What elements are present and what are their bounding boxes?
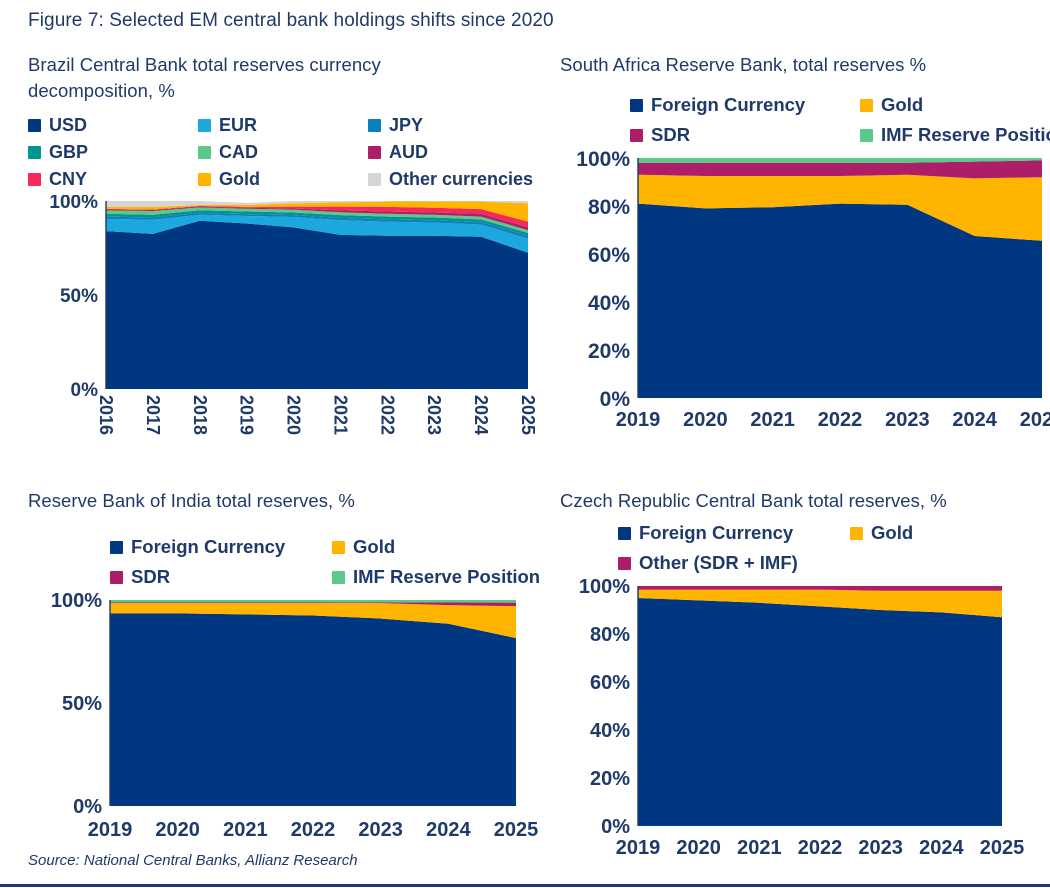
legend-item-label: Gold	[353, 536, 395, 558]
legend-swatch-icon	[332, 541, 345, 554]
chart-czech: 100%80%60%40%20%0%2019202020212022202320…	[560, 578, 1050, 873]
legend-swatch-icon	[618, 527, 631, 540]
legend-swatch-icon	[860, 129, 873, 142]
legend-item[interactable]: JPY	[368, 112, 538, 139]
legend-swatch-icon	[618, 557, 631, 570]
x-axis-tick-label: 2022	[798, 837, 843, 859]
source-note: Source: National Central Banks, Allianz …	[28, 852, 358, 869]
legend-item-label: GBP	[49, 142, 88, 163]
x-axis-tick-label: 2020	[284, 395, 304, 435]
legend-swatch-icon	[28, 119, 41, 132]
x-axis-tick-label: 2024	[919, 837, 964, 859]
legend-item-label: IMF Reserve Position	[881, 124, 1050, 146]
legend-item-label: Gold	[219, 169, 260, 190]
legend-item[interactable]: SDR	[110, 562, 332, 592]
x-axis-tick-label: 2021	[750, 409, 795, 431]
x-axis-tick-label: 2023	[858, 837, 903, 859]
legend-item[interactable]: AUD	[368, 139, 538, 166]
x-axis-tick-label: 2020	[155, 819, 200, 841]
x-axis-tick-label: 2019	[88, 819, 133, 841]
legend-item[interactable]: Other currencies	[368, 166, 538, 193]
legend-item-label: Foreign Currency	[131, 536, 285, 558]
legend-item-label: IMF Reserve Position	[353, 566, 540, 588]
legend-south-africa: Foreign CurrencyGoldSDRIMF Reserve Posit…	[560, 90, 1050, 150]
chart-svg-brazil: 100%50%0%2016201720182019202020212022202…	[28, 195, 538, 455]
y-axis-tick-label: 60%	[588, 244, 630, 267]
legend-swatch-icon	[368, 173, 381, 186]
chart-brazil: 100%50%0%2016201720182019202020212022202…	[28, 195, 538, 460]
legend-item-label: CNY	[49, 169, 87, 190]
chart-svg-south_africa: 100%80%60%40%20%0%2019202020212022202320…	[560, 150, 1050, 440]
x-axis-tick-label: 2018	[190, 395, 210, 435]
legend-swatch-icon	[28, 173, 41, 186]
y-axis-tick-label: 40%	[588, 292, 630, 315]
area-series	[638, 598, 1002, 826]
legend-item-label: SDR	[651, 124, 690, 146]
legend-swatch-icon	[630, 99, 643, 112]
y-axis-tick-label: 0%	[71, 380, 99, 401]
legend-swatch-icon	[368, 119, 381, 132]
x-axis-tick-label: 2019	[237, 395, 257, 435]
chart-india: 100%50%0%2019202020212022202320242025	[28, 592, 538, 857]
y-axis-tick-label: 20%	[590, 768, 630, 790]
legend-item-label: Other (SDR + IMF)	[639, 552, 798, 574]
legend-swatch-icon	[332, 571, 345, 584]
panel-czech-title: Czech Republic Central Bank total reserv…	[560, 488, 1050, 514]
panel-brazil: Brazil Central Bank total reserves curre…	[28, 52, 538, 482]
legend-swatch-icon	[860, 99, 873, 112]
y-axis-tick-label: 40%	[590, 720, 630, 742]
legend-item[interactable]: CNY	[28, 166, 198, 193]
area-series	[638, 160, 1042, 178]
legend-item[interactable]: IMF Reserve Position	[860, 120, 1050, 150]
x-axis-tick-label: 2022	[818, 409, 863, 431]
panel-india: Reserve Bank of India total reserves, % …	[28, 488, 538, 848]
y-axis-tick-label: 80%	[588, 196, 630, 219]
legend-swatch-icon	[630, 129, 643, 142]
legend-item-label: Other currencies	[389, 169, 533, 190]
x-axis-tick-label: 2024	[426, 819, 471, 841]
legend-item[interactable]: Gold	[860, 90, 1050, 120]
legend-item-label: USD	[49, 115, 87, 136]
legend-item[interactable]: Gold	[198, 166, 368, 193]
legend-item-label: JPY	[389, 115, 423, 136]
legend-item[interactable]: Gold	[332, 532, 532, 562]
x-axis-tick-label: 2021	[737, 837, 782, 859]
chart-south-africa: 100%80%60%40%20%0%2019202020212022202320…	[560, 150, 1050, 445]
x-axis-tick-label: 2023	[885, 409, 930, 431]
x-axis-tick-label: 2020	[683, 409, 728, 431]
x-axis-tick-label: 2020	[676, 837, 721, 859]
panel-india-title: Reserve Bank of India total reserves, %	[28, 488, 538, 514]
y-axis-tick-label: 60%	[590, 672, 630, 694]
figure-title: Figure 7: Selected EM central bank holdi…	[28, 10, 554, 32]
x-axis-tick-label: 2025	[980, 837, 1025, 859]
legend-item[interactable]: Foreign Currency	[618, 518, 850, 548]
legend-swatch-icon	[198, 119, 211, 132]
legend-item[interactable]: CAD	[198, 139, 368, 166]
legend-item[interactable]: Other (SDR + IMF)	[618, 548, 850, 578]
legend-swatch-icon	[368, 146, 381, 159]
legend-item[interactable]: USD	[28, 112, 198, 139]
legend-item[interactable]: Foreign Currency	[110, 532, 332, 562]
legend-item-label: AUD	[389, 142, 428, 163]
x-axis-tick-label: 2023	[358, 819, 403, 841]
y-axis-tick-label: 20%	[588, 340, 630, 363]
x-axis-tick-label: 2019	[616, 409, 661, 431]
y-axis-tick-label: 100%	[49, 195, 98, 213]
y-axis-tick-label: 100%	[576, 150, 630, 171]
legend-swatch-icon	[850, 527, 863, 540]
y-axis-tick-label: 100%	[579, 578, 630, 598]
area-series	[110, 600, 516, 603]
y-axis-tick-label: 100%	[51, 592, 102, 612]
x-axis-tick-label: 2025	[518, 395, 538, 435]
legend-brazil: USDEURJPYGBPCADAUDCNYGoldOther currencie…	[28, 112, 538, 193]
legend-swatch-icon	[110, 541, 123, 554]
legend-swatch-icon	[198, 146, 211, 159]
chart-svg-czech: 100%80%60%40%20%0%2019202020212022202320…	[560, 578, 1050, 868]
legend-swatch-icon	[110, 571, 123, 584]
panel-brazil-title: Brazil Central Bank total reserves curre…	[28, 52, 538, 104]
x-axis-tick-label: 2017	[143, 395, 163, 435]
x-axis-tick-label: 2019	[616, 837, 661, 859]
x-axis-tick-label: 2024	[952, 409, 997, 431]
y-axis-tick-label: 50%	[62, 693, 102, 715]
legend-item[interactable]: EUR	[198, 112, 368, 139]
legend-item-label: SDR	[131, 566, 170, 588]
legend-swatch-icon	[28, 146, 41, 159]
legend-item-label: Foreign Currency	[651, 94, 805, 116]
panel-brazil-title-line1: Brazil Central Bank total reserves curre…	[28, 52, 538, 78]
panel-brazil-title-line2: decomposition, %	[28, 78, 538, 104]
x-axis-tick-label: 2022	[377, 395, 397, 435]
legend-item-label: Gold	[881, 94, 923, 116]
y-axis-tick-label: 0%	[600, 388, 631, 411]
x-axis-tick-label: 2022	[291, 819, 336, 841]
legend-india: Foreign CurrencyGoldSDRIMF Reserve Posit…	[28, 532, 620, 592]
legend-swatch-icon	[198, 173, 211, 186]
legend-item-label: Gold	[871, 522, 913, 544]
legend-item-label: EUR	[219, 115, 257, 136]
panel-south-africa: South Africa Reserve Bank, total reserve…	[560, 52, 1050, 482]
y-axis-tick-label: 50%	[60, 286, 98, 307]
y-axis-tick-label: 0%	[601, 816, 630, 838]
bottom-rule	[0, 884, 1050, 887]
legend-item[interactable]: IMF Reserve Position	[332, 562, 532, 592]
legend-item[interactable]: GBP	[28, 139, 198, 166]
area-series	[106, 221, 528, 389]
y-axis-tick-label: 0%	[73, 796, 102, 818]
x-axis-tick-label: 2024	[471, 395, 491, 435]
x-axis-tick-label: 2021	[223, 819, 268, 841]
area-series	[110, 613, 516, 806]
x-axis-tick-label: 2023	[424, 395, 444, 435]
x-axis-tick-label: 2016	[96, 395, 116, 435]
legend-item-label: Foreign Currency	[639, 522, 793, 544]
legend-item-label: CAD	[219, 142, 258, 163]
panel-south-africa-title: South Africa Reserve Bank, total reserve…	[560, 52, 1050, 78]
legend-item[interactable]: Gold	[850, 518, 1030, 548]
x-axis-tick-label: 2021	[330, 395, 350, 435]
x-axis-tick-label: 2025	[1020, 409, 1050, 431]
chart-svg-india: 100%50%0%2019202020212022202320242025	[28, 592, 538, 852]
legend-item[interactable]: SDR	[630, 120, 860, 150]
figure-root: Figure 7: Selected EM central bank holdi…	[0, 0, 1050, 888]
legend-item[interactable]: Foreign Currency	[630, 90, 860, 120]
panel-czech: Czech Republic Central Bank total reserv…	[560, 488, 1050, 848]
y-axis-tick-label: 80%	[590, 624, 630, 646]
legend-czech: Foreign CurrencyGoldOther (SDR + IMF)	[560, 518, 1050, 578]
x-axis-tick-label: 2025	[494, 819, 538, 841]
